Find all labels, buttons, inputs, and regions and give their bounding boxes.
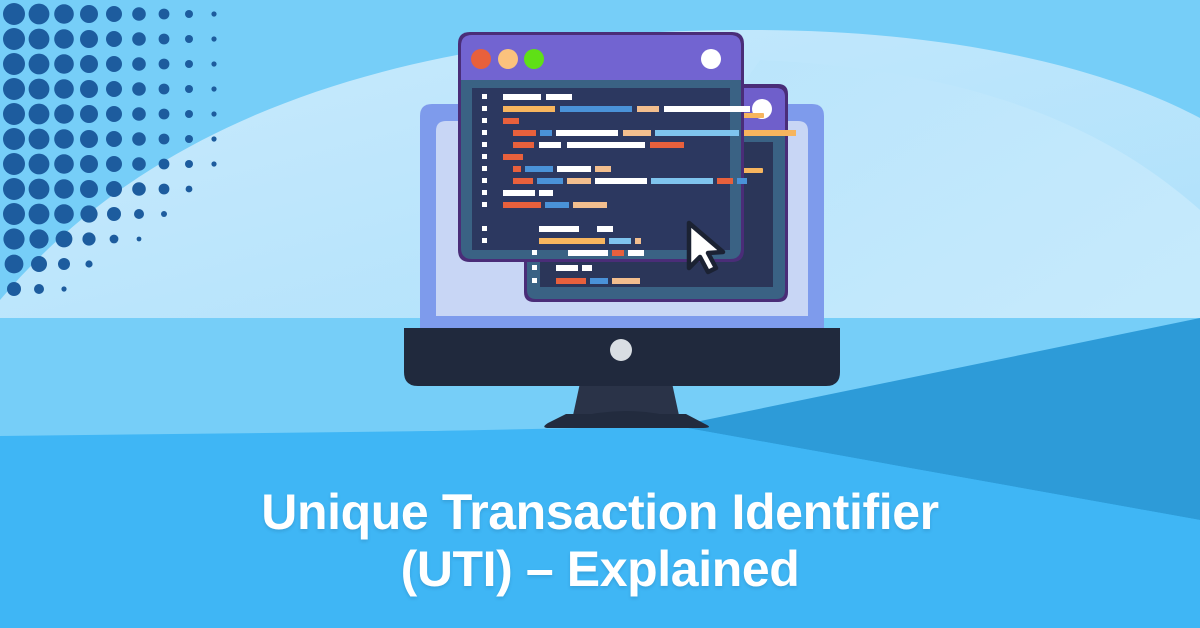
maximize-dot-icon[interactable] xyxy=(524,49,544,69)
monitor-home-button[interactable] xyxy=(610,339,632,361)
close-dot-icon[interactable] xyxy=(471,49,491,69)
banner-canvas: Unique Transaction Identifier (UTI) – Ex… xyxy=(0,0,1200,628)
minimize-dot-icon[interactable] xyxy=(498,49,518,69)
front-window-menu-dot[interactable] xyxy=(701,49,721,69)
illustration-layer xyxy=(0,0,1200,628)
monitor-base xyxy=(544,414,709,428)
